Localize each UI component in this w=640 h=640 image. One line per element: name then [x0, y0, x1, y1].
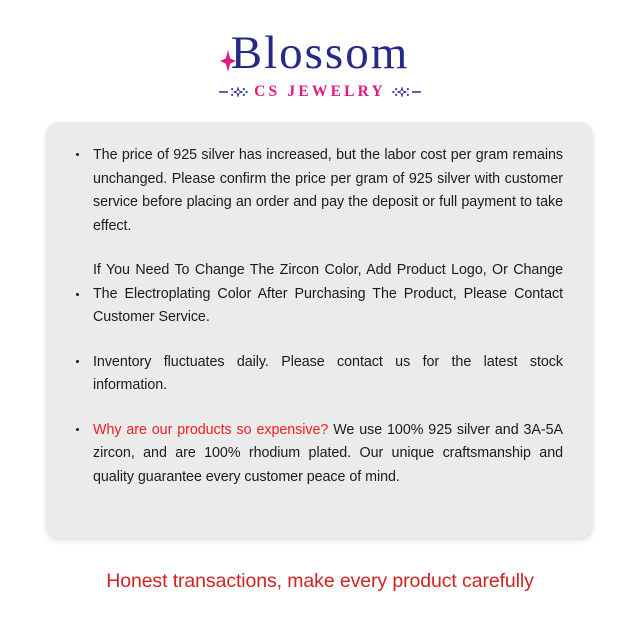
brand-logo-block: Blossom CS JEWELRY [0, 0, 640, 100]
notice-card: The price of 925 silver has increased, b… [46, 122, 593, 538]
brand-wordmark: Blossom [231, 30, 410, 77]
bullet-dot-icon [76, 360, 79, 363]
list-item: The price of 925 silver has increased, b… [76, 144, 563, 238]
footer-tagline: Honest transactions, make every product … [0, 568, 640, 594]
bullet-highlight-text: Why are our products so expensive? [93, 422, 328, 438]
bullet-dot-icon [76, 428, 79, 431]
notice-bullet-list: The price of 925 silver has increased, b… [76, 144, 563, 489]
list-item: Inventory fluctuates daily. Please conta… [76, 351, 563, 398]
bullet-text: If You Need To Change The Zircon Color, … [93, 262, 563, 325]
list-item: If You Need To Change The Zircon Color, … [76, 259, 563, 330]
list-item: Why are our products so expensive? We us… [76, 419, 563, 490]
ornament-right-icon [391, 84, 421, 100]
brand-subtitle-text: CS JEWELRY [254, 84, 386, 100]
bullet-text: Inventory fluctuates daily. Please conta… [93, 354, 563, 394]
bullet-text: The price of 925 silver has increased, b… [93, 147, 563, 234]
bullet-dot-icon [76, 153, 79, 156]
ornament-left-icon [219, 84, 249, 100]
bullet-dot-icon [76, 293, 79, 296]
brand-wordmark-text: Blossom [231, 27, 410, 79]
brand-subtitle-row: CS JEWELRY [0, 84, 640, 100]
